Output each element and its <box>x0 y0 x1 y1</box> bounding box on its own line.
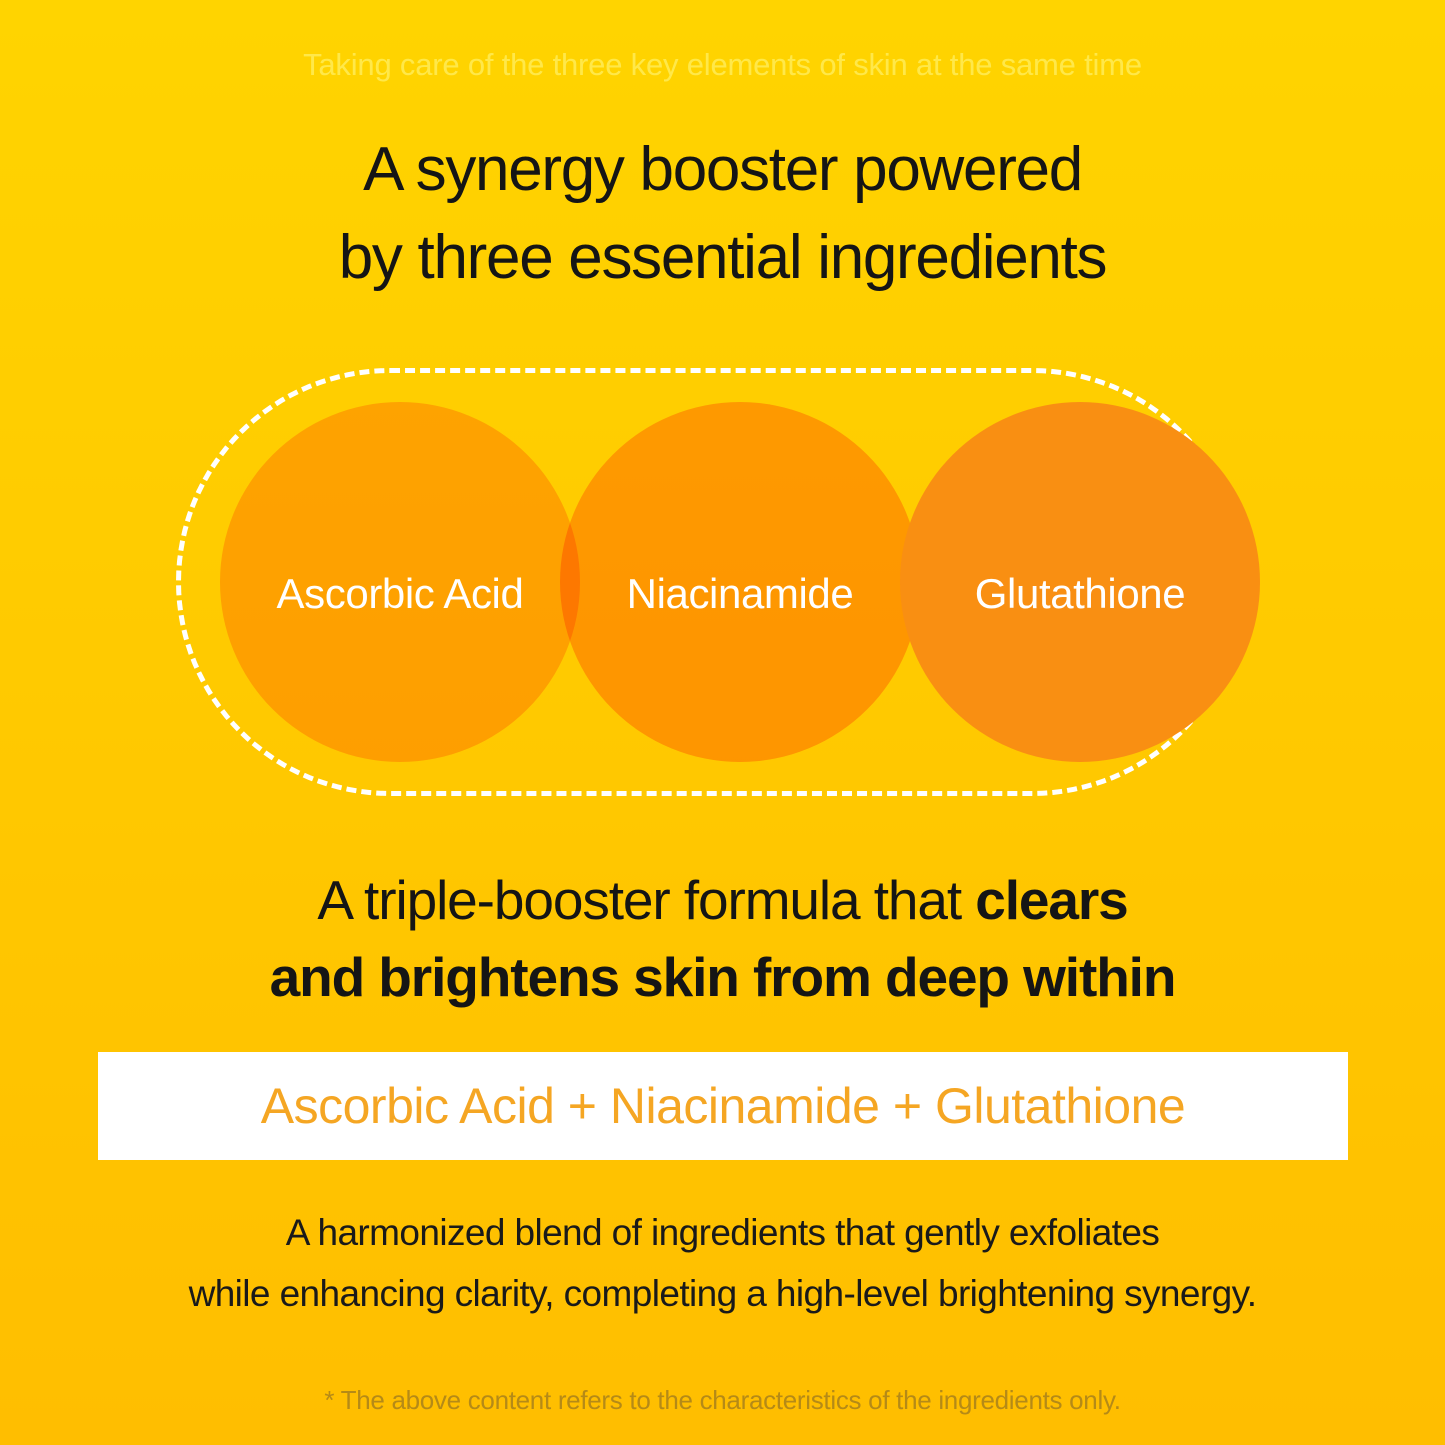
venn-label-ascorbic-acid: Ascorbic Acid <box>220 572 580 616</box>
secondary-heading: A triple-booster formula that clears and… <box>0 862 1445 1016</box>
subhead-line-1-regular: A triple-booster formula that <box>317 869 975 931</box>
body-line-2: while enhancing clarity, completing a hi… <box>0 1263 1445 1324</box>
venn-circle-group: Ascorbic Acid Niacinamide Glutathione <box>198 390 1224 774</box>
venn-label-glutathione: Glutathione <box>900 572 1260 616</box>
headline-line-1: A synergy booster powered <box>0 126 1445 214</box>
subhead-line-1: A triple-booster formula that clears <box>0 862 1445 939</box>
body-paragraph: A harmonized blend of ingredients that g… <box>0 1202 1445 1325</box>
venn-label-niacinamide: Niacinamide <box>560 572 920 616</box>
venn-diagram: Ascorbic Acid Niacinamide Glutathione <box>176 368 1246 796</box>
subhead-line-2: and brightens skin from deep within <box>0 939 1445 1016</box>
ingredient-banner-text: Ascorbic Acid + Niacinamide + Glutathion… <box>261 1077 1185 1135</box>
body-line-1: A harmonized blend of ingredients that g… <box>0 1202 1445 1263</box>
infographic-page: Taking care of the three key elements of… <box>0 0 1445 1445</box>
page-title: A synergy booster powered by three essen… <box>0 126 1445 302</box>
headline-line-2: by three essential ingredients <box>0 214 1445 302</box>
ingredient-banner: Ascorbic Acid + Niacinamide + Glutathion… <box>98 1052 1348 1160</box>
subhead-line-1-bold: clears <box>975 869 1127 931</box>
eyebrow-text: Taking care of the three key elements of… <box>0 47 1445 83</box>
subhead-line-2-bold: and brightens skin from deep within <box>270 946 1176 1008</box>
footnote-disclaimer: * The above content refers to the charac… <box>0 1385 1445 1416</box>
